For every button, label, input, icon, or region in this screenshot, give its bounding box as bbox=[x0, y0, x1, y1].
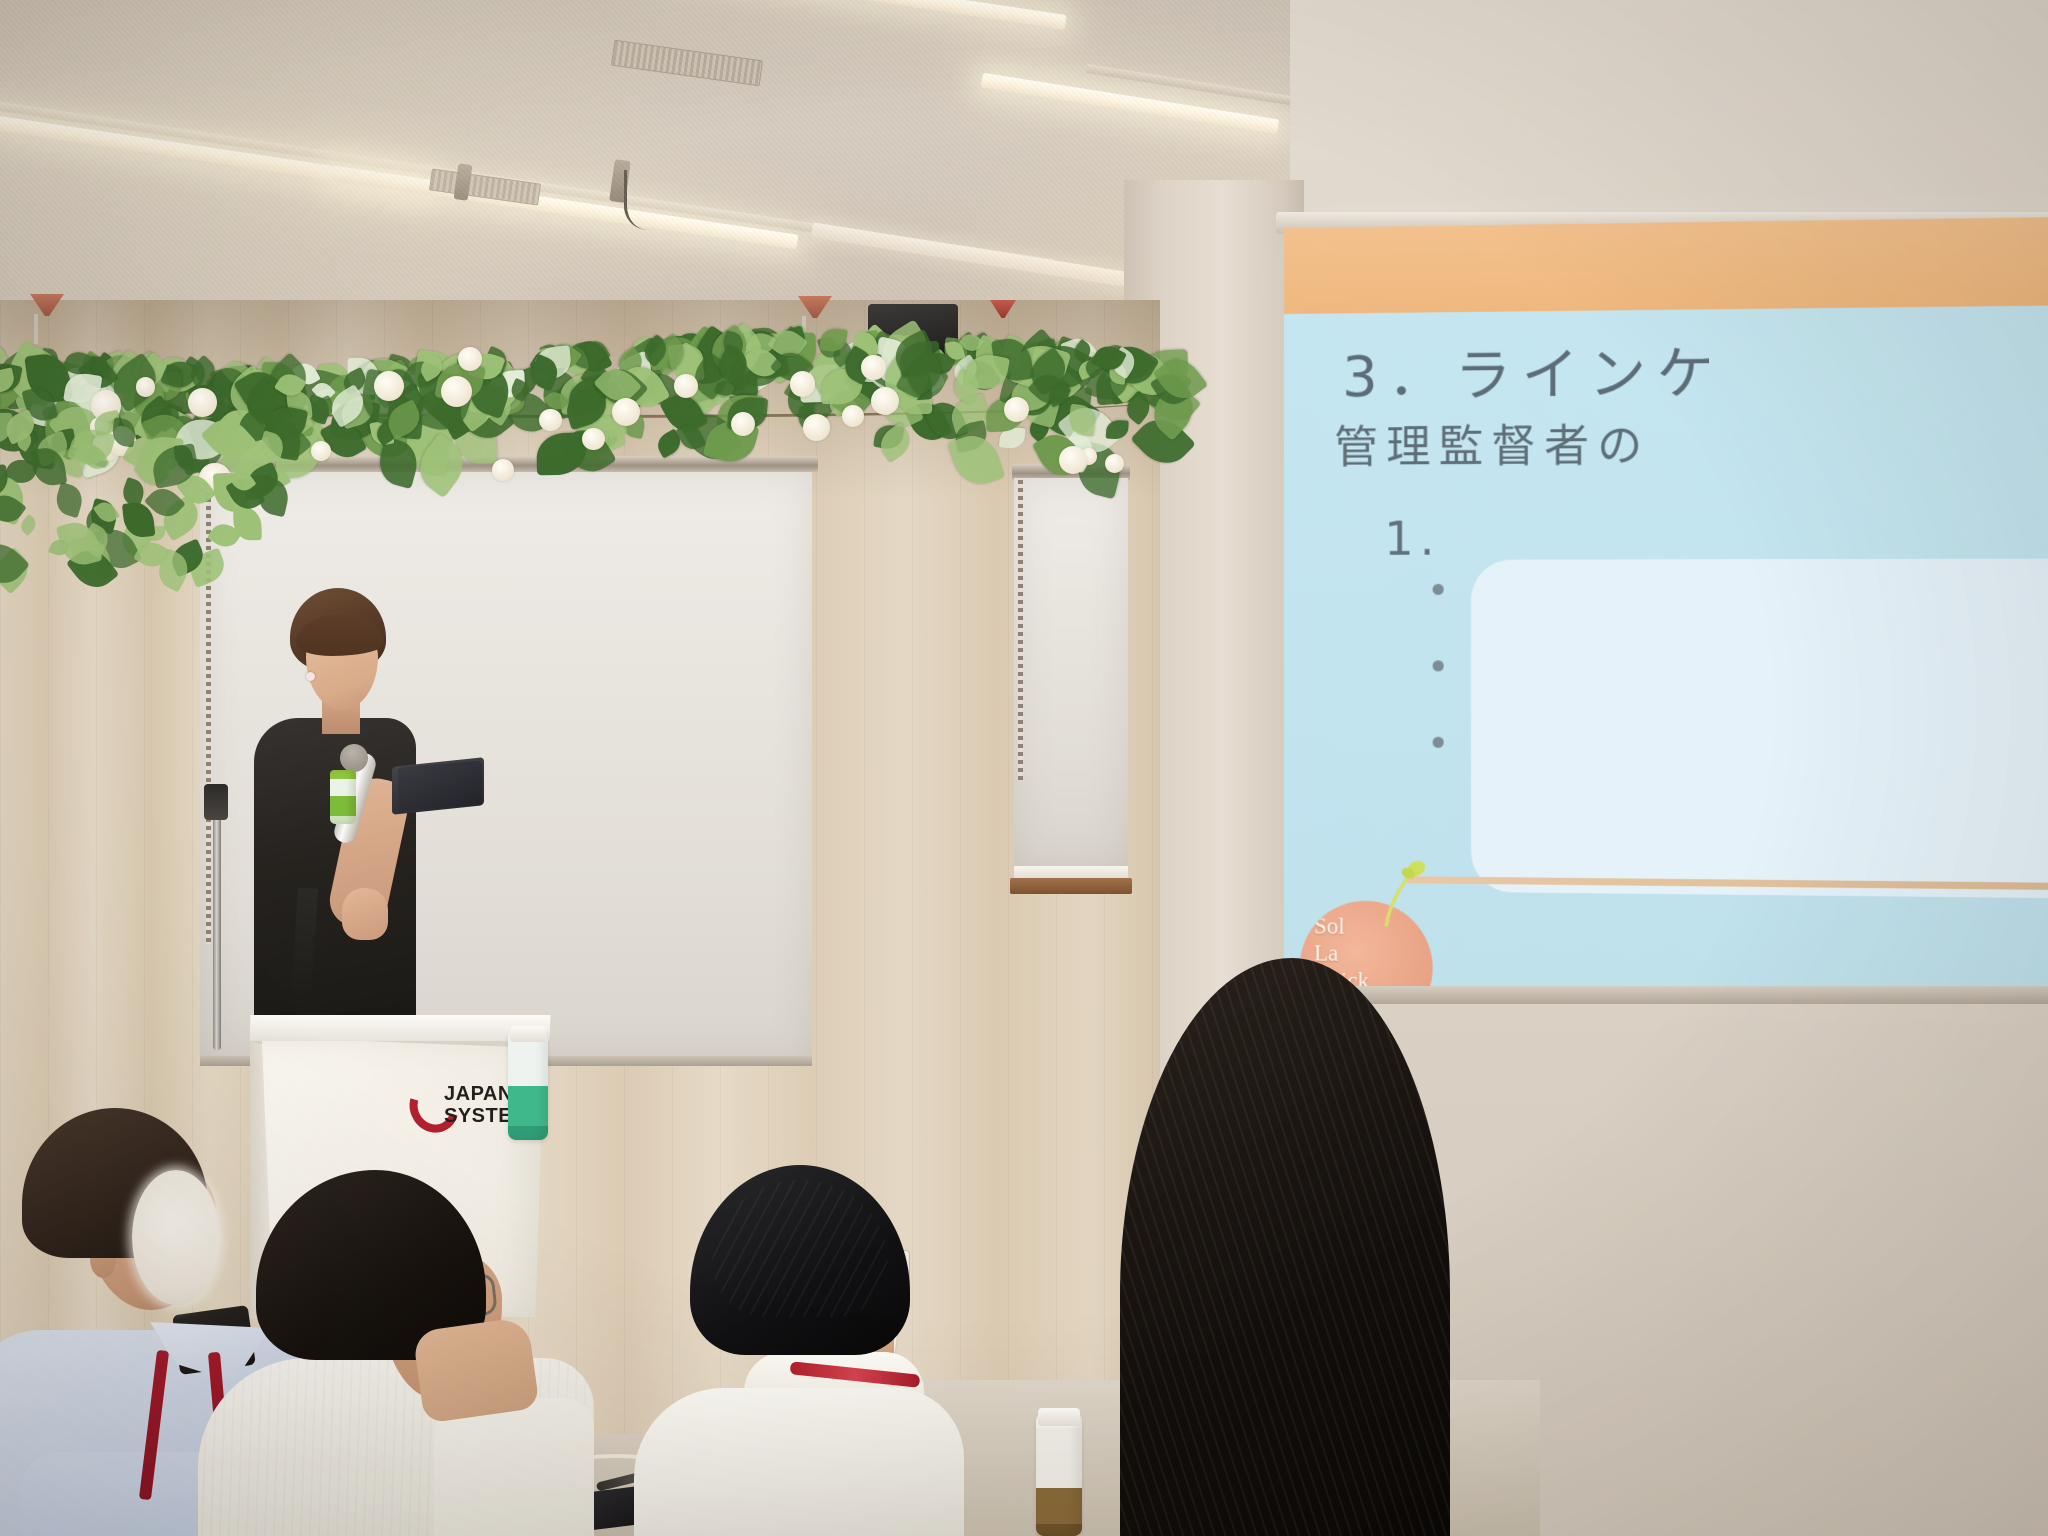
ceiling-rail bbox=[0, 97, 1055, 268]
podium-bottle bbox=[330, 770, 356, 824]
sprout-icon bbox=[1380, 857, 1426, 928]
pendant-lamp-1 bbox=[30, 294, 64, 316]
attendee-2-clasped-hands bbox=[412, 1316, 540, 1423]
ivy-flower bbox=[136, 377, 155, 396]
ivy-flower bbox=[311, 441, 331, 461]
attendee-3-body bbox=[634, 1388, 964, 1536]
ivy-garland bbox=[0, 286, 1160, 516]
blind-chain-1[interactable] bbox=[206, 474, 211, 944]
ivy-flower bbox=[1059, 446, 1087, 474]
attendee-1-face-anonymization-mask bbox=[132, 1170, 220, 1305]
projection-slide: 3．ラインケ 管理監督者の 1. SolLaChick bbox=[1284, 217, 2048, 997]
ivy-flower bbox=[803, 414, 830, 441]
ivy-flower bbox=[458, 347, 482, 371]
bottle-green bbox=[508, 1030, 548, 1140]
presenter bbox=[236, 588, 416, 1028]
ivy-flower bbox=[861, 355, 885, 379]
slide-bullet-3 bbox=[1433, 737, 1444, 748]
ivy-flower bbox=[842, 405, 864, 427]
mic-stand-clip bbox=[204, 784, 228, 820]
bottle-brown bbox=[1036, 1414, 1082, 1536]
slide-heading: 3．ラインケ bbox=[1342, 327, 1724, 412]
laptop bbox=[398, 760, 482, 811]
logo-line: Sol bbox=[1314, 912, 1369, 940]
slide-bullet-2 bbox=[1433, 660, 1444, 671]
slide-subheading: 管理監督者の bbox=[1334, 409, 1650, 475]
ivy-flower bbox=[188, 388, 216, 416]
projection-screen-bottom-bar bbox=[1276, 986, 2048, 1004]
podium-top-surface bbox=[250, 1015, 551, 1041]
ceiling-vent-2 bbox=[611, 40, 763, 87]
projector-cable bbox=[624, 170, 648, 230]
ivy-flower bbox=[374, 371, 404, 401]
slide-content-card bbox=[1471, 558, 2048, 899]
bottle-green-cap bbox=[510, 1026, 546, 1042]
ceiling-light-5 bbox=[811, 222, 1139, 288]
pendant-lamp-3 bbox=[990, 300, 1016, 318]
presenter-earring bbox=[306, 672, 315, 681]
ivy-flower bbox=[674, 374, 698, 398]
projector-mount bbox=[609, 159, 631, 203]
pendant-rod bbox=[454, 163, 473, 201]
bottle-brown-cap bbox=[1038, 1408, 1080, 1426]
photo-scene: 3．ラインケ 管理監督者の 1. SolLaChick bbox=[0, 0, 2048, 1536]
blind-chain-2[interactable] bbox=[1018, 480, 1023, 780]
pendant-rod-1 bbox=[34, 314, 38, 344]
logo-line: La bbox=[1314, 939, 1369, 967]
ivy-leaf-trailing bbox=[52, 481, 86, 518]
ceiling-light-3 bbox=[649, 0, 1067, 30]
ivy-flower bbox=[492, 459, 514, 481]
ivy-flower bbox=[871, 387, 899, 415]
slide-bullet-1 bbox=[1433, 584, 1444, 595]
ivy-flower bbox=[790, 371, 815, 396]
ivy-flower bbox=[1105, 454, 1124, 473]
ivy-leaf bbox=[1106, 419, 1129, 439]
ceiling-light-1 bbox=[0, 112, 429, 195]
ivy-flower bbox=[539, 409, 561, 431]
slide-list-number: 1. bbox=[1384, 511, 1440, 565]
ivy-leaf bbox=[536, 433, 585, 476]
pendant-lamp-2 bbox=[798, 296, 832, 318]
ceiling-light-2 bbox=[331, 165, 798, 249]
mic-stand bbox=[213, 800, 221, 1050]
ivy-flower bbox=[441, 376, 472, 407]
ceiling-vent bbox=[429, 168, 541, 205]
window-blind-2 bbox=[1014, 478, 1128, 870]
ceiling-light-4 bbox=[981, 73, 1280, 135]
presenter-hand bbox=[342, 888, 388, 940]
ivy-flower bbox=[1004, 397, 1029, 422]
window-sill bbox=[1010, 878, 1132, 894]
slide-header-band bbox=[1284, 217, 2048, 314]
